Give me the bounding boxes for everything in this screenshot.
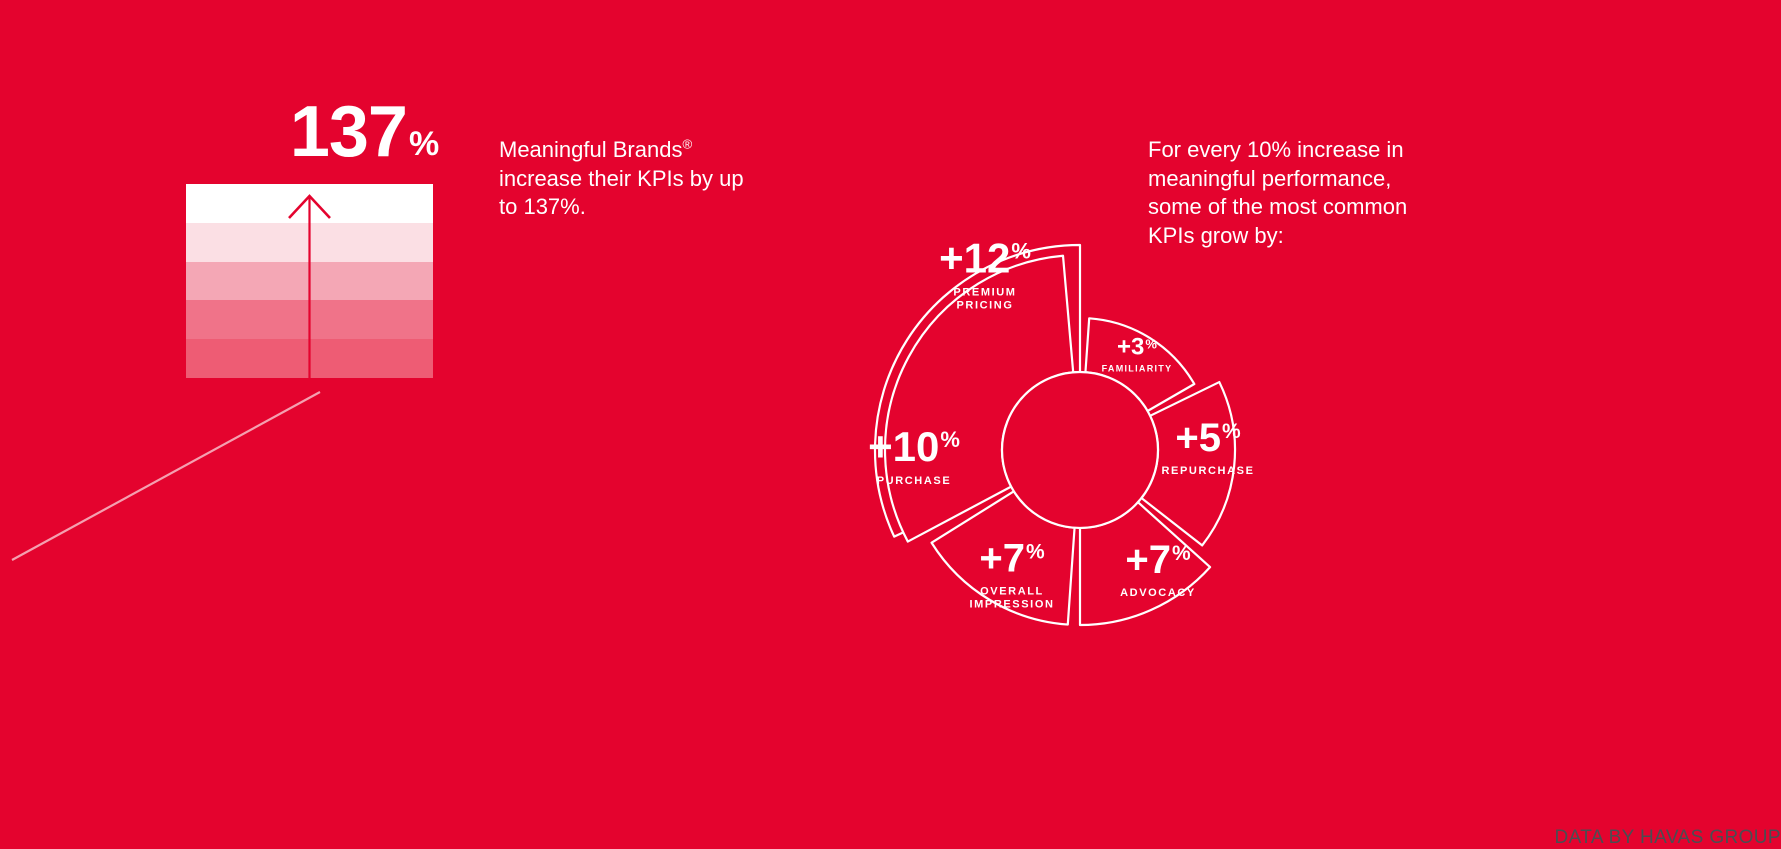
stat-headline: 137 % bbox=[241, 100, 488, 165]
rose-label-overall-impression: +7%OVERALLIMPRESSION bbox=[969, 538, 1054, 611]
rose-name-overall-impression: OVERALLIMPRESSION bbox=[969, 585, 1054, 611]
rose-value-repurchase: +5% bbox=[1161, 418, 1254, 458]
copy-left-rest: increase their KPIs by up to 137%. bbox=[499, 166, 744, 220]
trademark-icon: ® bbox=[682, 137, 692, 152]
rose-value-percent-overall-impression: % bbox=[1026, 538, 1045, 562]
rose-value-percent-purchase: % bbox=[940, 426, 960, 451]
gradient-bar-1 bbox=[186, 184, 433, 223]
rose-value-number-advocacy: +7 bbox=[1125, 540, 1171, 580]
kpi-rose-chart: +12%PREMIUMPRICING+3%FAMILIARITY+5%REPUR… bbox=[780, 120, 1300, 700]
decorative-diagonal-line bbox=[0, 370, 560, 630]
rose-center-hole bbox=[1002, 372, 1158, 528]
rose-value-familiarity: +3% bbox=[1102, 336, 1173, 360]
gradient-bar-stack bbox=[186, 184, 433, 378]
rose-label-purchase: +10%PURCHASE bbox=[868, 426, 960, 488]
copy-left: Meaningful Brands® increase their KPIs b… bbox=[499, 136, 749, 222]
rose-value-purchase: +10% bbox=[868, 426, 960, 468]
rose-value-percent-premium-pricing: % bbox=[1011, 237, 1031, 262]
rose-chart-svg bbox=[780, 120, 1300, 700]
rose-value-premium-pricing: +12% bbox=[939, 237, 1031, 279]
gradient-bar-5 bbox=[186, 339, 433, 378]
gradient-bar-4 bbox=[186, 300, 433, 339]
rose-label-advocacy: +7%ADVOCACY bbox=[1120, 540, 1196, 600]
data-source-credit: DATA BY HAVAS GROUP bbox=[1554, 827, 1781, 849]
rose-name-familiarity: FAMILIARITY bbox=[1102, 364, 1173, 375]
gradient-bar-3 bbox=[186, 262, 433, 301]
rose-value-percent-familiarity: % bbox=[1145, 336, 1157, 351]
rose-name-repurchase: REPURCHASE bbox=[1161, 465, 1254, 478]
rose-value-number-familiarity: +3 bbox=[1117, 336, 1144, 360]
stat-block-137: 137 % bbox=[186, 100, 486, 165]
rose-value-number-purchase: +10 bbox=[868, 426, 939, 468]
rose-name-premium-pricing: PREMIUMPRICING bbox=[939, 286, 1031, 312]
rose-value-percent-advocacy: % bbox=[1172, 540, 1191, 564]
rose-label-premium-pricing: +12%PREMIUMPRICING bbox=[939, 237, 1031, 312]
rose-value-number-repurchase: +5 bbox=[1175, 418, 1221, 458]
rose-value-number-overall-impression: +7 bbox=[979, 538, 1025, 578]
rose-value-percent-repurchase: % bbox=[1222, 418, 1241, 442]
copy-left-brand: Meaningful Brands bbox=[499, 137, 682, 162]
rose-value-advocacy: +7% bbox=[1120, 540, 1196, 580]
rose-name-advocacy: ADVOCACY bbox=[1120, 587, 1196, 600]
rose-value-number-premium-pricing: +12 bbox=[939, 237, 1010, 279]
infographic-canvas: 137 % Meaningful Brands® increase their … bbox=[0, 0, 1781, 843]
stat-percent-symbol: % bbox=[409, 129, 439, 165]
rose-value-overall-impression: +7% bbox=[969, 538, 1054, 578]
rose-label-familiarity: +3%FAMILIARITY bbox=[1102, 336, 1173, 375]
rose-name-purchase: PURCHASE bbox=[868, 475, 960, 488]
rose-label-repurchase: +5%REPURCHASE bbox=[1161, 418, 1254, 478]
gradient-bar-2 bbox=[186, 223, 433, 262]
stat-value: 137 bbox=[290, 100, 407, 165]
